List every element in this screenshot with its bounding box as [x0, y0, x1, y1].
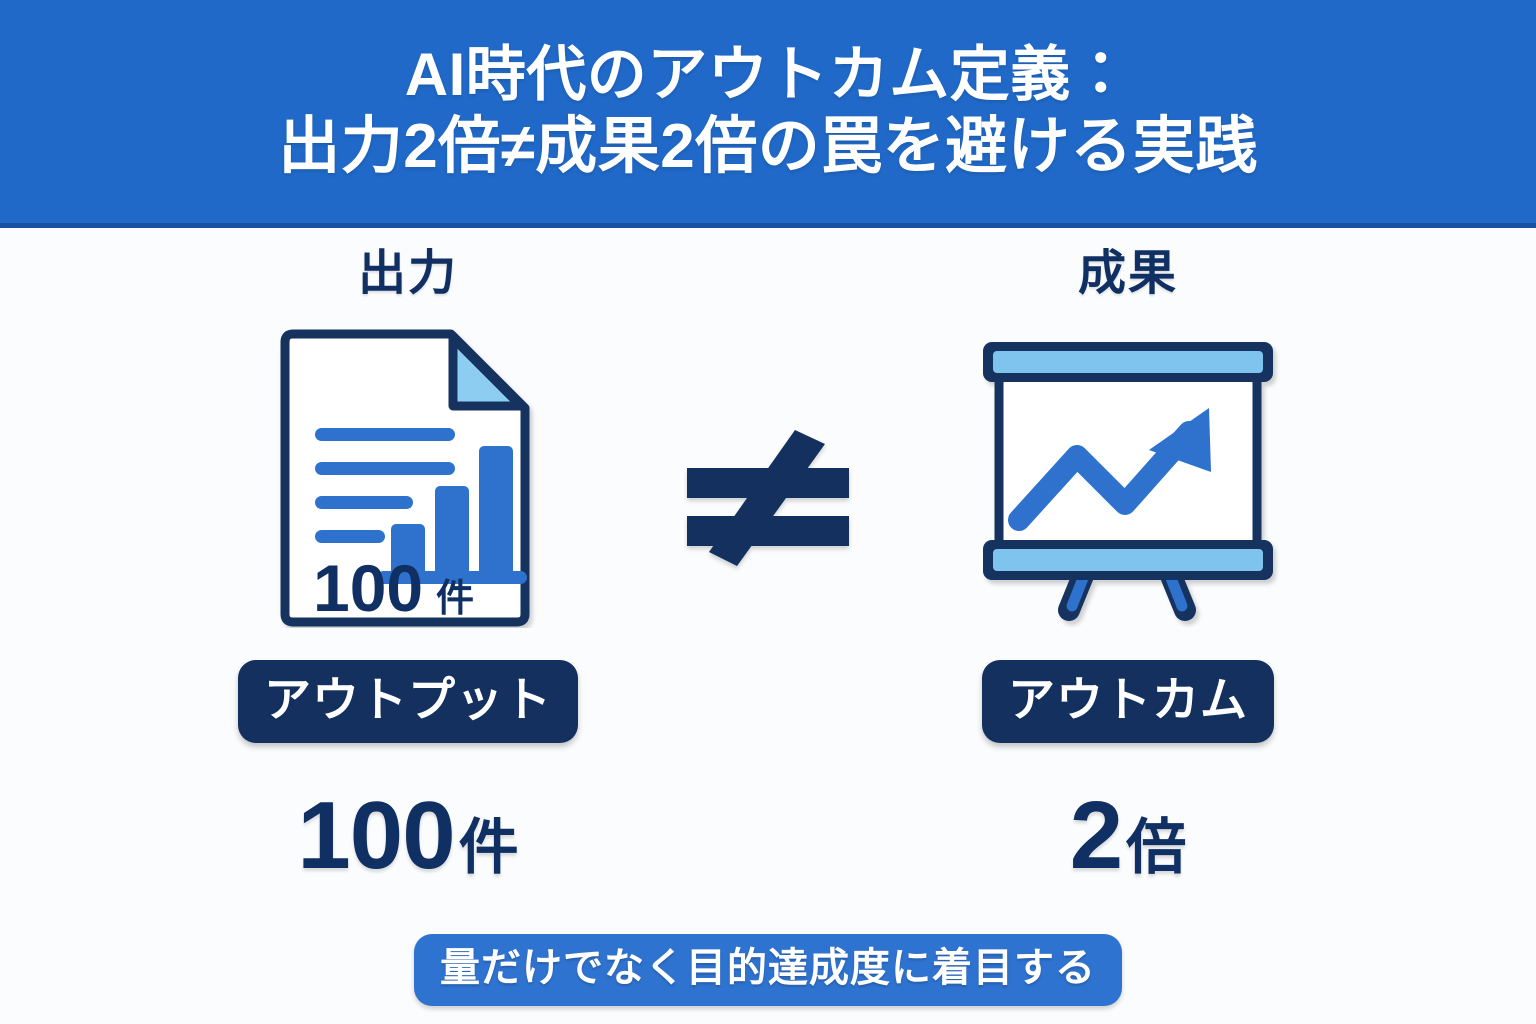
- outcome-badge-slot: アウトカム: [918, 660, 1338, 743]
- outcome-kicker-label: 成果: [1078, 250, 1178, 298]
- not-equal-sign-icon: [673, 428, 863, 568]
- document-icon-count: 100: [313, 551, 423, 625]
- output-value-unit: 件: [459, 818, 519, 878]
- value-row: 100 件 2 倍: [0, 788, 1536, 884]
- output-badge[interactable]: アウトプット: [238, 660, 578, 743]
- badge-row: アウトプット アウトカム: [0, 660, 1536, 743]
- output-value-slot: 100 件: [198, 788, 618, 884]
- page-title-line-1: AI時代のアウトカム定義：: [278, 40, 1258, 111]
- presentation-board-growth-arrow-icon: [973, 328, 1283, 628]
- outcome-value-number: 2: [1070, 788, 1122, 884]
- output-badge-slot: アウトプット: [198, 660, 618, 743]
- header-banner: AI時代のアウトカム定義： 出力2倍≠成果2倍の罠を避ける実践: [0, 0, 1536, 228]
- outcome-value-unit: 倍: [1126, 818, 1186, 878]
- infographic-slide: AI時代のアウトカム定義： 出力2倍≠成果2倍の罠を避ける実践 出力: [0, 0, 1536, 1024]
- output-icon-wrap: 100 件: [273, 328, 543, 628]
- operator-slot: [648, 250, 888, 568]
- document-with-chart-icon: 100 件: [273, 328, 543, 628]
- output-value-number: 100: [297, 788, 454, 884]
- page-title: AI時代のアウトカム定義： 出力2倍≠成果2倍の罠を避ける実践: [238, 40, 1298, 184]
- outcome-badge[interactable]: アウトカム: [982, 660, 1274, 743]
- outcome-column: 成果: [918, 250, 1338, 628]
- output-column: 出力: [198, 250, 618, 628]
- page-title-line-2: 出力2倍≠成果2倍の罠を避ける実践: [278, 110, 1258, 183]
- document-icon-unit: 件: [436, 578, 474, 620]
- footer-caption-pill: 量だけでなく目的達成度に着目する: [414, 934, 1122, 1006]
- output-kicker-label: 出力: [358, 250, 458, 298]
- content-area: 出力: [0, 228, 1536, 1024]
- outcome-icon-wrap: [973, 328, 1283, 628]
- footer-pill-row: 量だけでなく目的達成度に着目する: [0, 934, 1536, 1006]
- outcome-value-slot: 2 倍: [918, 788, 1338, 884]
